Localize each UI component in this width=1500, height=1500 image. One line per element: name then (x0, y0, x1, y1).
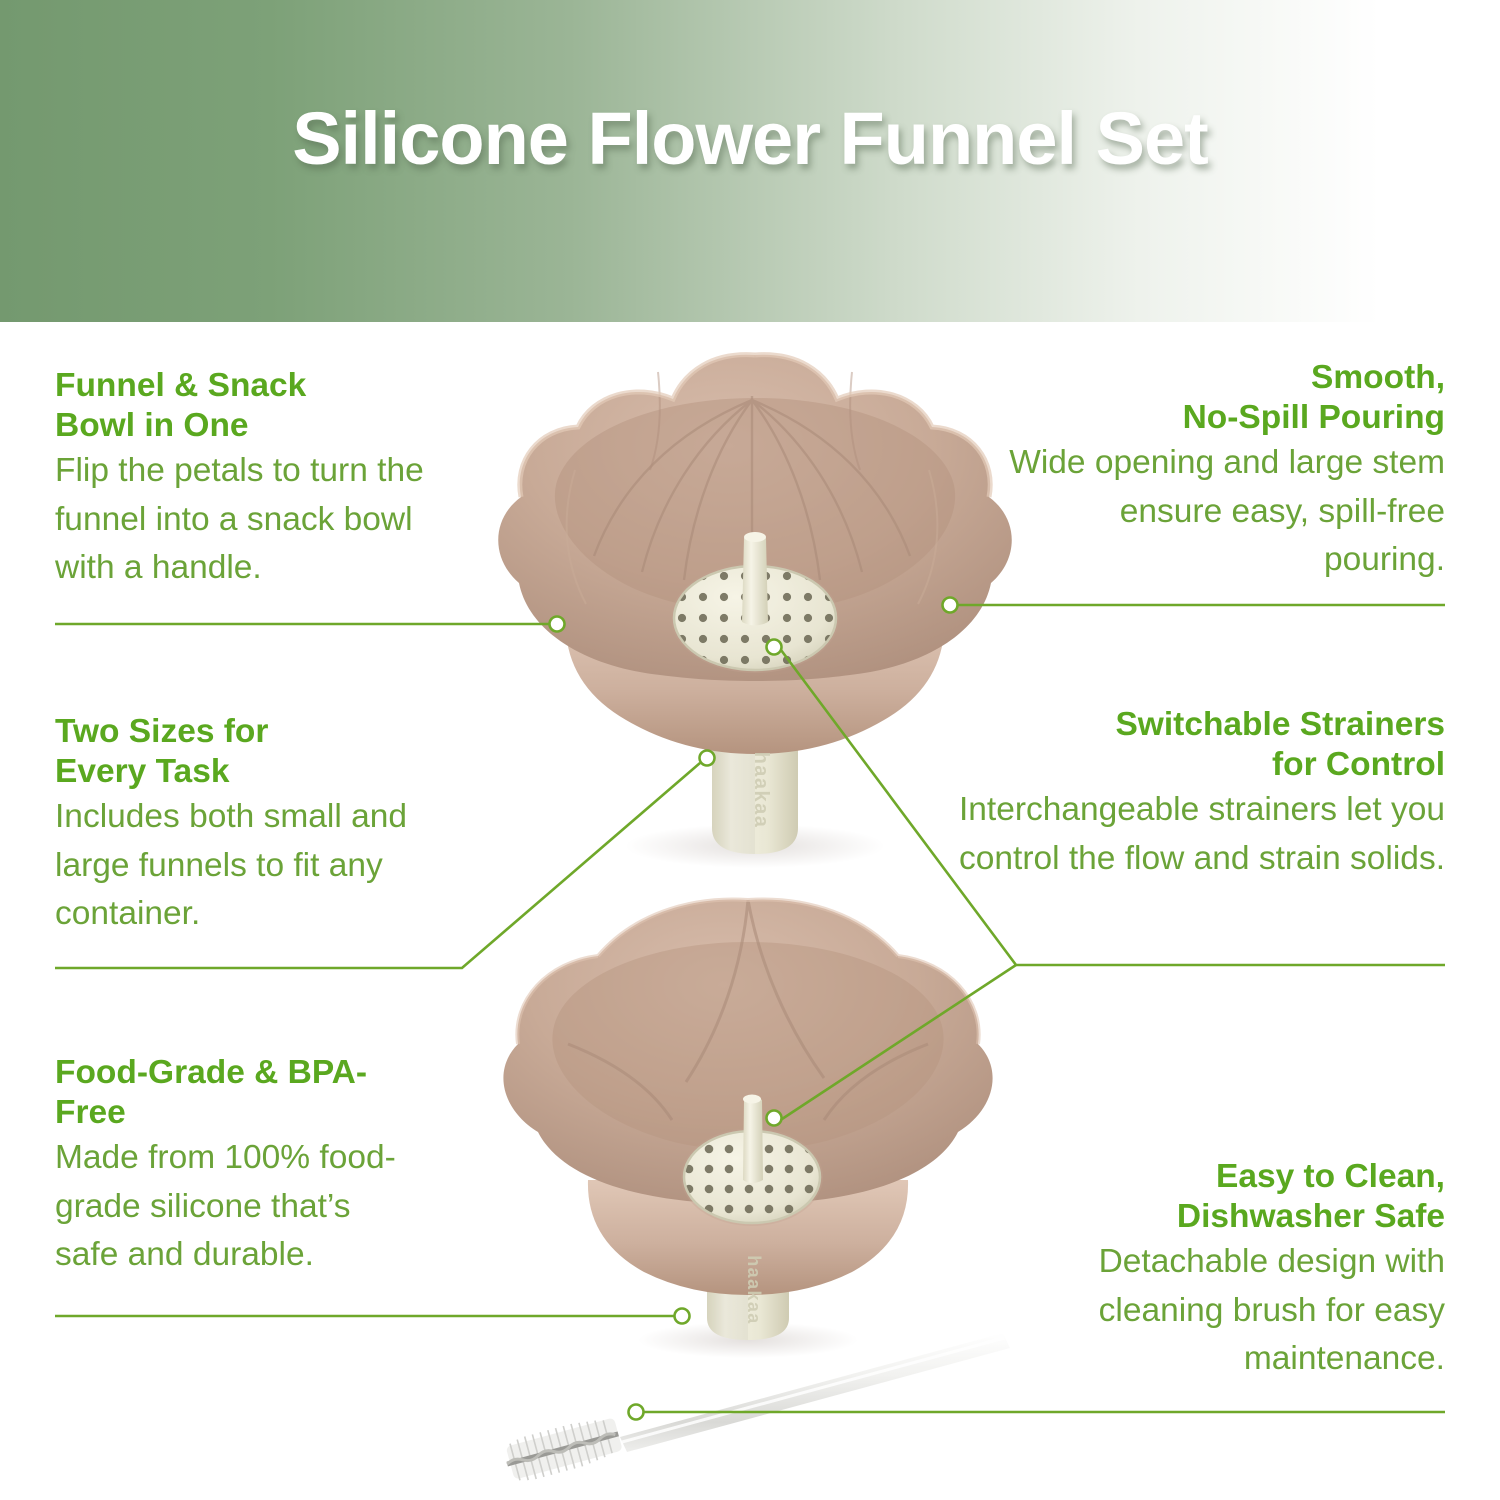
feature-title: Switchable Strainersfor Control (945, 705, 1445, 784)
feature-title: Food-Grade & BPA-Free (55, 1053, 415, 1132)
brand-emboss-large: haakaa (750, 752, 772, 829)
small-funnel: haakaa (503, 899, 992, 1358)
feature-funnel-snack-bowl: Funnel & SnackBowl in One Flip the petal… (55, 366, 475, 593)
brand-emboss-small: haakaa (744, 1255, 764, 1324)
feature-food-grade: Food-Grade & BPA-Free Made from 100% foo… (55, 1053, 415, 1280)
feature-two-sizes: Two Sizes forEvery Task Includes both sm… (55, 712, 455, 939)
feature-title: Smooth,No-Spill Pouring (995, 358, 1445, 437)
feature-title: Easy to Clean,Dishwasher Safe (1025, 1157, 1445, 1236)
feature-title: Two Sizes forEvery Task (55, 712, 455, 791)
feature-easy-to-clean: Easy to Clean,Dishwasher Safe Detachable… (1025, 1157, 1445, 1384)
feature-body: Made from 100% food-grade silicone that’… (55, 1134, 415, 1280)
large-funnel: haakaa (498, 355, 1012, 868)
feature-body: Interchangeable strainers let you contro… (945, 786, 1445, 883)
feature-title: Funnel & SnackBowl in One (55, 366, 475, 445)
feature-body: Flip the petals to turn the funnel into … (55, 447, 475, 593)
feature-body: Detachable design with cleaning brush fo… (1025, 1238, 1445, 1384)
feature-switchable-strainers: Switchable Strainersfor Control Intercha… (945, 705, 1445, 883)
feature-no-spill-pouring: Smooth,No-Spill Pouring Wide opening and… (995, 358, 1445, 585)
feature-body: Wide opening and large stem ensure easy,… (995, 439, 1445, 585)
feature-body: Includes both small and large funnels to… (55, 793, 455, 939)
